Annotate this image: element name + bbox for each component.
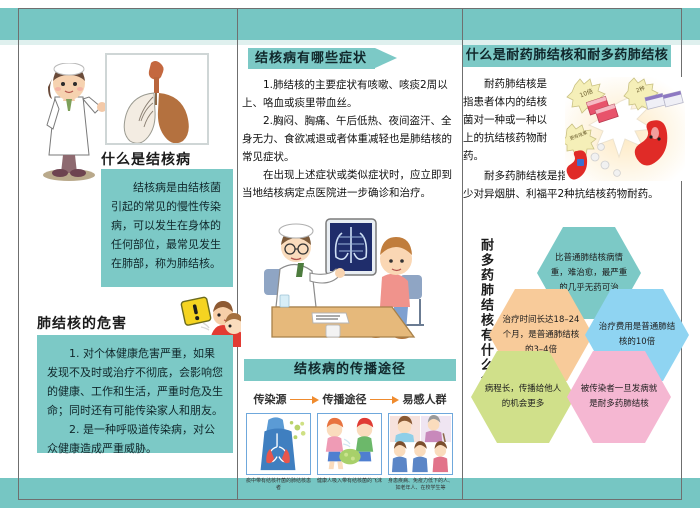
panel-right: 什么是耐药肺结核和耐多药肺结核 10倍 2种 xyxy=(463,45,681,478)
symptom-item-3: 在出现上述症状或类似症状时，应立即到当地结核病定点医院进一步确诊和治疗。 xyxy=(242,166,454,202)
banner-tb-symptoms: 结核病有哪些症状 xyxy=(248,48,375,69)
doctor-xray-consultation-icon xyxy=(254,207,446,347)
mdr-harm-hexagons: 比普通肺结核病情重，难治愈，最严重的几乎无药可治 治疗时间长达18–24个月，是… xyxy=(493,227,683,442)
brochure-sheet: 什么是结核病 结核病是由结核菌引起的常见的慢性传染病，可以发生在身体的任何部位，… xyxy=(0,0,700,508)
tile-caption-1: 痰中带有结核杆菌的肺结核患者 xyxy=(246,478,311,492)
list-item: 痰中带有结核杆菌的肺结核患者 xyxy=(246,413,311,492)
transmission-title: 结核病的传播途径 xyxy=(244,359,456,381)
drug-resistant-paragraph-1: 耐药肺结核是指患者体内的结核菌对一种或一种以上的抗结核药物耐药。 xyxy=(463,75,555,165)
tb-harm-body-box: 1. 对个体健康危害严重，如果发现不及时或治疗不彻底，会影响您的健康、工作和生活… xyxy=(37,335,233,453)
lungs-anatomy-icon xyxy=(105,53,209,145)
hexagon-duration-text: 治疗时间长达18–24个月，是普通肺结核的3–4倍 xyxy=(489,313,593,358)
drug-resistant-body: 10倍 2种 更有效果 xyxy=(463,75,681,203)
what-is-tb-body-text: 结核病是由结核菌引起的常见的慢性传染病，可以发生在身体的任何部位，最常见发生在肺… xyxy=(111,178,223,273)
panel-middle: 结核病有哪些症状 1.肺结核的主要症状有咳嗽、咳痰2周以上、咯血或痰里带血丝。 … xyxy=(238,45,462,478)
flow-step-susceptible: 易感人群 xyxy=(403,391,447,407)
what-is-tb-body-box: 结核病是由结核菌引起的常见的慢性传染病，可以发生在身体的任何部位，最常见发生在肺… xyxy=(101,169,233,287)
hexagon-cost-text: 治疗费用是普通肺结核的10倍 xyxy=(585,320,689,350)
flow-step-route: 传播途径 xyxy=(323,391,367,407)
pills-and-bacteria-icon: 10倍 2种 更有效果 xyxy=(565,77,685,181)
list-item: 身患疾病、免疫力低下的人、如老年人、在校学生等 xyxy=(388,413,453,492)
infected-lungs-icon xyxy=(246,413,311,475)
droplet-inhalation-icon xyxy=(317,413,382,475)
heading-what-is-tb: 什么是结核病 xyxy=(101,149,191,169)
transmission-tiles: 痰中带有结核杆菌的肺结核患者 xyxy=(246,413,454,492)
flow-step-source: 传染源 xyxy=(254,391,287,407)
hexagon-transmission-outcome-text: 被传染者一旦发病就是耐多药肺结核 xyxy=(567,382,671,412)
arrow-right-icon-2 xyxy=(370,395,400,404)
transmission-flow: 传染源 传播途径 易感人群 xyxy=(244,390,456,408)
list-item: 健康人吸入带有结核菌的飞沫 xyxy=(317,413,382,492)
tb-harm-item-2: 2. 是一种呼吸道传染病，对公众健康造成严重威胁。 xyxy=(47,420,223,458)
symptoms-text-block: 1.肺结核的主要症状有咳嗽、咳痰2周以上、咯血或痰里带血丝。 2.胸闷、胸痛、午… xyxy=(238,76,462,202)
heading-tb-harm: 肺结核的危害 xyxy=(37,313,127,333)
symptom-item-1: 1.肺结核的主要症状有咳嗽、咳痰2周以上、咯血或痰里带血丝。 xyxy=(242,76,454,112)
tb-harm-item-1: 1. 对个体健康危害严重，如果发现不及时或治疗不彻底，会影响您的健康、工作和生活… xyxy=(47,344,223,420)
female-doctor-icon xyxy=(29,63,109,181)
title-drug-resistant-tb: 什么是耐药肺结核和耐多药肺结核 xyxy=(463,45,671,67)
hexagon-severity-text: 比普通肺结核病情重，难治愈，最严重的几乎无药可治 xyxy=(537,251,641,296)
hexagon-spread-text: 病程长，传播给他人的机会更多 xyxy=(471,382,575,412)
susceptible-people-icon xyxy=(388,413,453,475)
panel-left: 什么是结核病 结核病是由结核菌引起的常见的慢性传染病，可以发生在身体的任何部位，… xyxy=(19,45,237,478)
symptom-item-2: 2.胸闷、胸痛、午后低热、夜间盗汗、全身无力、食欲减退或者体重减轻也是肺结核的常… xyxy=(242,112,454,166)
arrow-right-icon-1 xyxy=(290,395,320,404)
tile-caption-2: 健康人吸入带有结核菌的飞沫 xyxy=(317,478,382,485)
tile-caption-3: 身患疾病、免疫力低下的人、如老年人、在校学生等 xyxy=(388,478,453,492)
